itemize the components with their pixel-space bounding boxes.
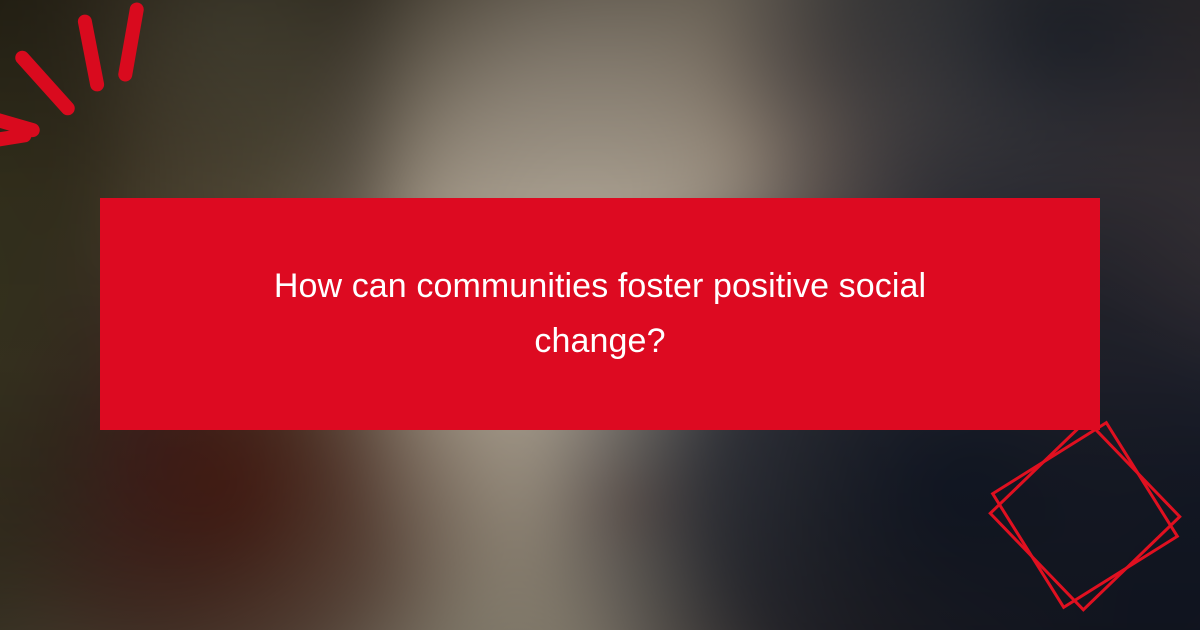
poster-canvas: How can communities foster positive soci… — [0, 0, 1200, 630]
headline-banner: How can communities foster positive soci… — [100, 198, 1100, 430]
headline-text: How can communities foster positive soci… — [220, 259, 980, 369]
